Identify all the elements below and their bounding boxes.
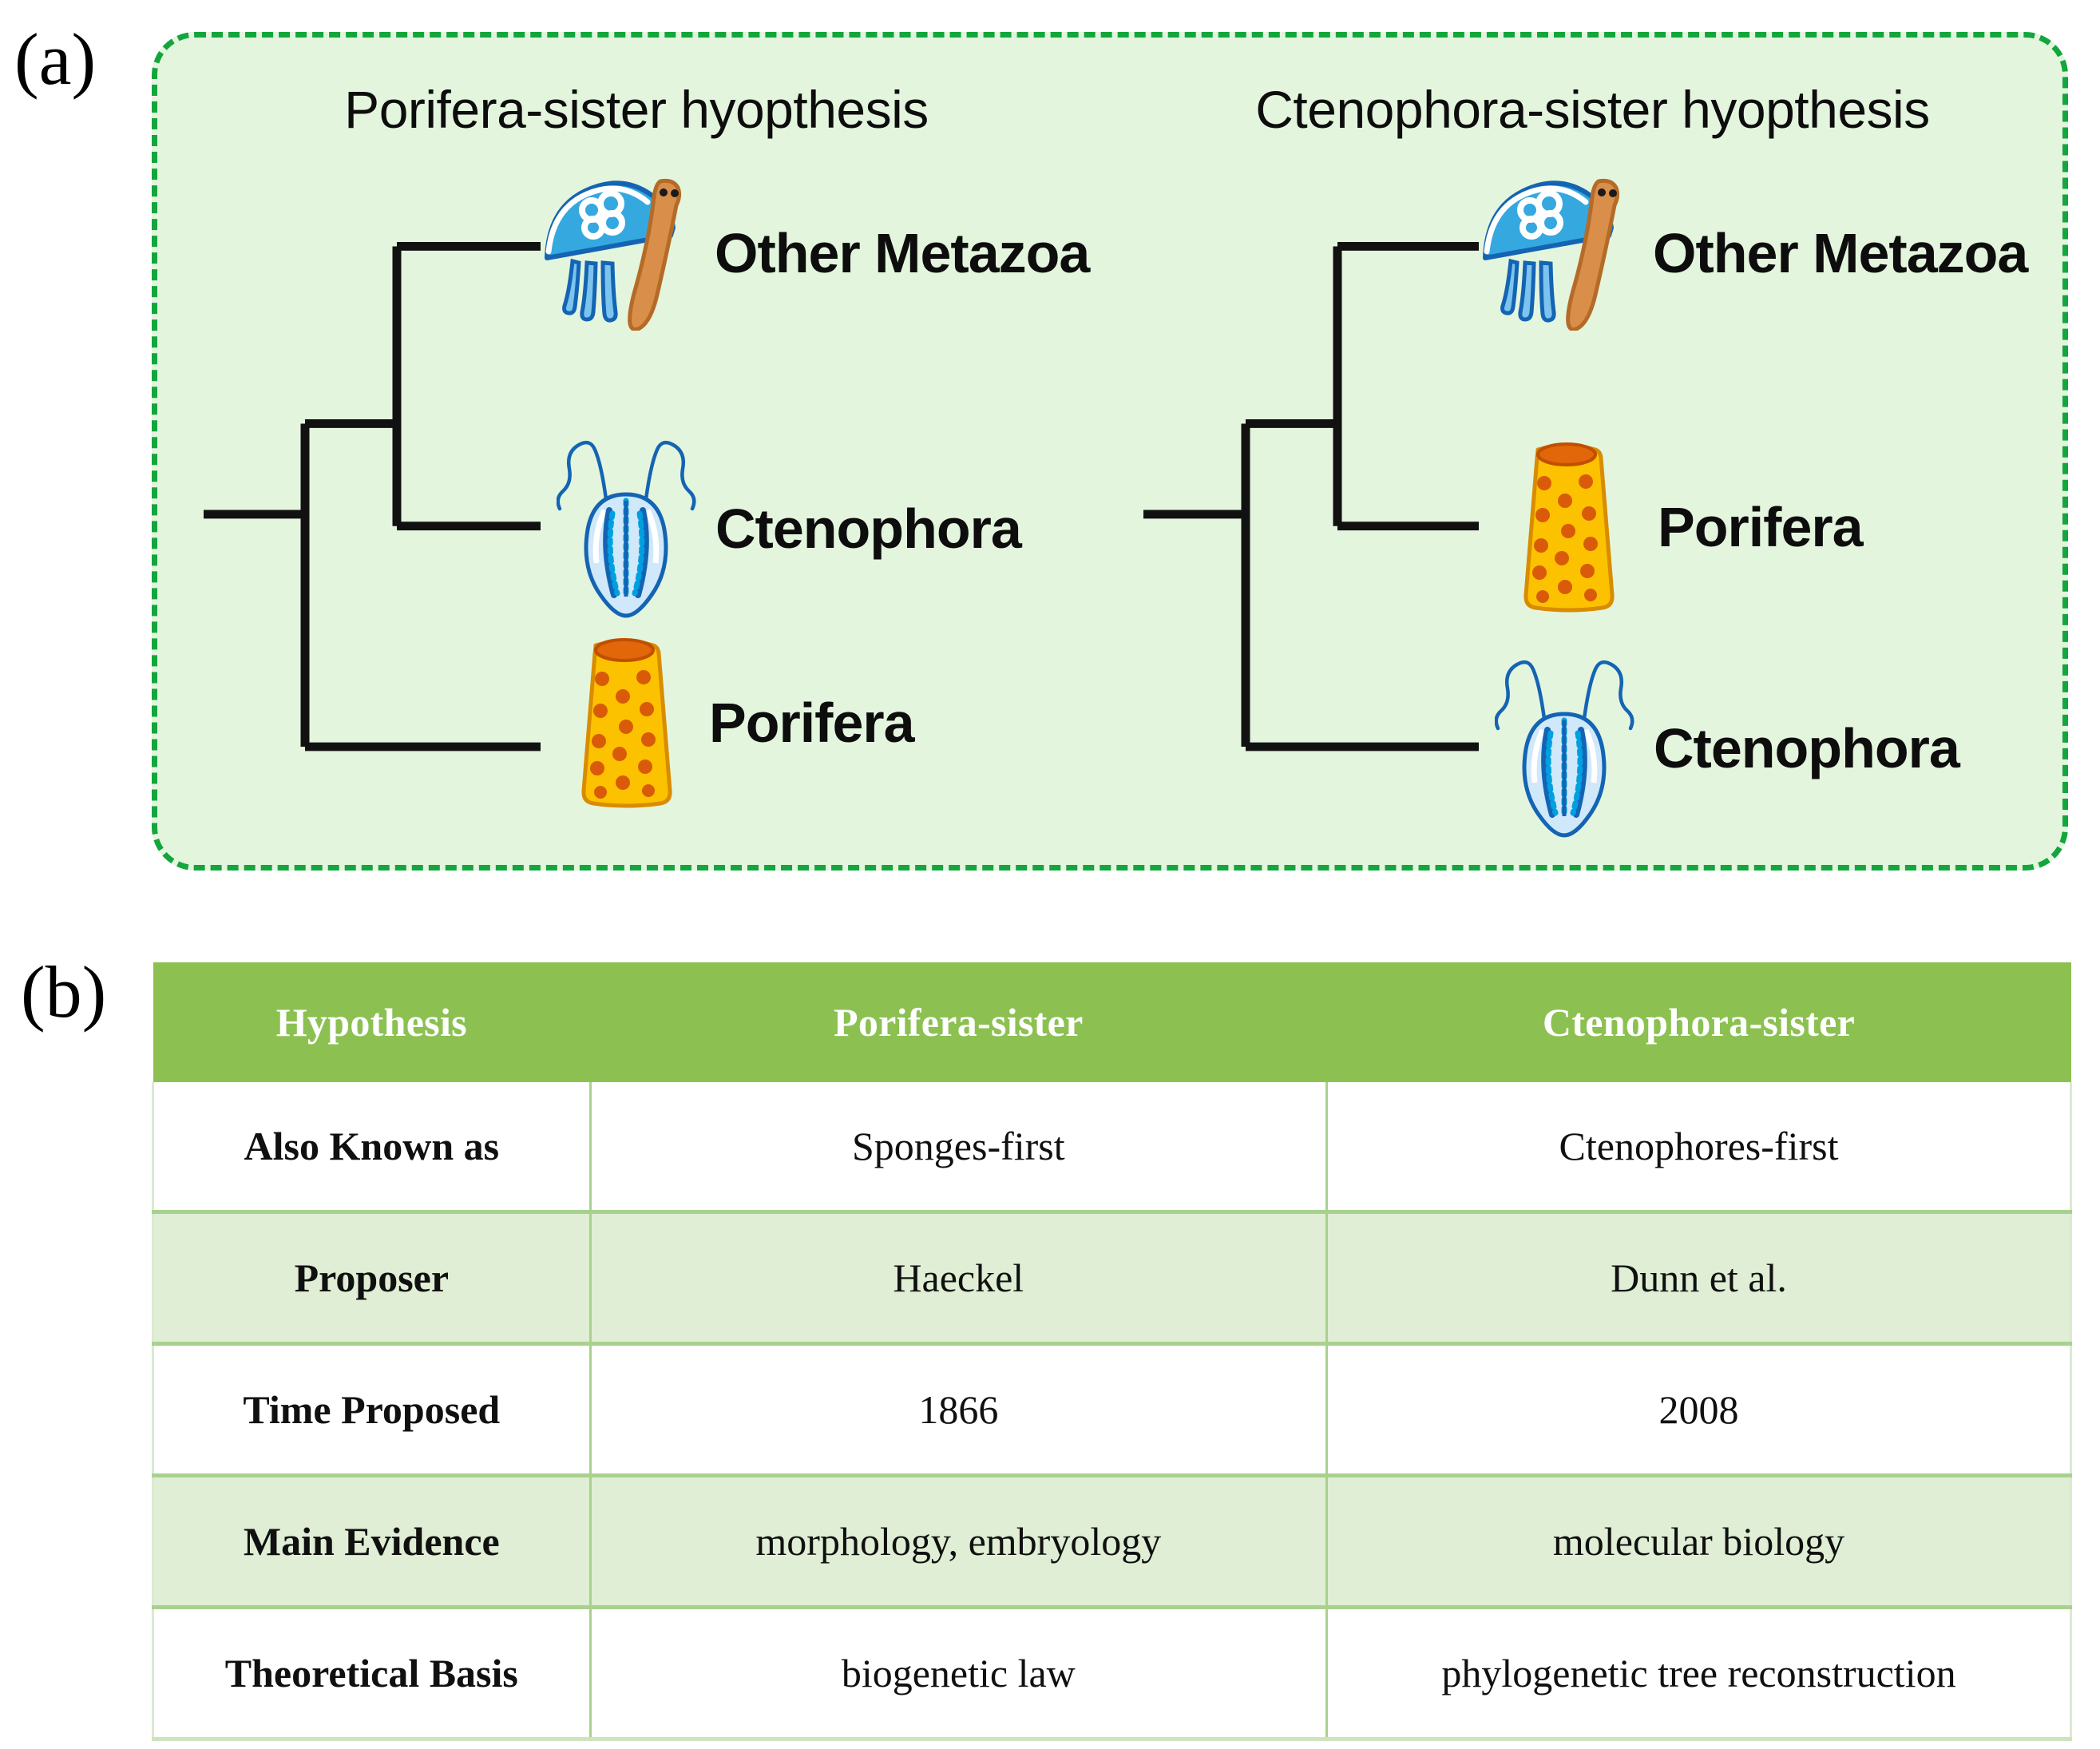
cell-porifera: Haeckel	[590, 1212, 1326, 1344]
tip-label-ctenophora: Ctenophora	[715, 497, 1021, 561]
tip-ctenophora: Ctenophora	[557, 437, 1021, 621]
tree-ctenophora-sister: Ctenophora-sister hyopthesis	[1111, 38, 2074, 865]
tip-label-other-metazoa: Other Metazoa	[715, 221, 1089, 285]
table-row: Main Evidence morphology, embryology mol…	[153, 1476, 2071, 1608]
sponge-icon	[1503, 437, 1630, 617]
cell-ctenophora: phylogenetic tree reconstruction	[1327, 1608, 2071, 1739]
cell-ctenophora: Dunn et al.	[1327, 1212, 2071, 1344]
sponge-icon	[561, 633, 688, 812]
tip-label-ctenophora: Ctenophora	[1654, 716, 1959, 780]
cell-porifera: Sponges-first	[590, 1082, 1326, 1212]
tree-porifera-sister: Porifera-sister hyopthesis	[157, 38, 1115, 865]
ctenophore-icon	[1495, 656, 1634, 840]
phylogeny-panel: Porifera-sister hyopthesis	[152, 32, 2068, 871]
tip-porifera: Porifera	[1503, 437, 1863, 617]
table-row: Proposer Haeckel Dunn et al.	[153, 1212, 2071, 1344]
tip-porifera: Porifera	[561, 633, 914, 812]
row-label: Main Evidence	[153, 1476, 591, 1608]
table-row: Also Known as Sponges-first Ctenophores-…	[153, 1082, 2071, 1212]
column-header-ctenophora: Ctenophora-sister	[1327, 962, 2071, 1082]
table-header-row: Hypothesis Porifera-sister Ctenophora-si…	[153, 962, 2071, 1082]
other-metazoa-icon	[541, 175, 700, 331]
other-metazoa-icon	[1479, 175, 1638, 331]
panel-label-a: (a)	[14, 22, 96, 96]
cell-porifera: biogenetic law	[590, 1608, 1326, 1739]
column-header-porifera: Porifera-sister	[590, 962, 1326, 1082]
cell-ctenophora: 2008	[1327, 1344, 2071, 1476]
tip-other-metazoa: Other Metazoa	[541, 175, 1089, 331]
row-label: Proposer	[153, 1212, 591, 1344]
tip-other-metazoa: Other Metazoa	[1479, 175, 2027, 331]
cell-porifera: morphology, embryology	[590, 1476, 1326, 1608]
tip-label-porifera: Porifera	[1658, 495, 1863, 559]
ctenophore-icon	[557, 437, 696, 621]
tip-ctenophora: Ctenophora	[1495, 656, 1959, 840]
row-label: Time Proposed	[153, 1344, 591, 1476]
hypothesis-comparison-table: Hypothesis Porifera-sister Ctenophora-si…	[152, 962, 2072, 1741]
tip-label-porifera: Porifera	[709, 691, 914, 755]
tip-label-other-metazoa: Other Metazoa	[1653, 221, 2027, 285]
table-row: Time Proposed 1866 2008	[153, 1344, 2071, 1476]
row-label: Theoretical Basis	[153, 1608, 591, 1739]
comparison-table-container: Hypothesis Porifera-sister Ctenophora-si…	[152, 962, 2072, 1741]
panel-label-b: (b)	[21, 955, 106, 1029]
row-label: Also Known as	[153, 1082, 591, 1212]
cell-ctenophora: Ctenophores-first	[1327, 1082, 2071, 1212]
table-row: Theoretical Basis biogenetic law phyloge…	[153, 1608, 2071, 1739]
column-header-hypothesis: Hypothesis	[153, 962, 591, 1082]
cell-porifera: 1866	[590, 1344, 1326, 1476]
cell-ctenophora: molecular biology	[1327, 1476, 2071, 1608]
